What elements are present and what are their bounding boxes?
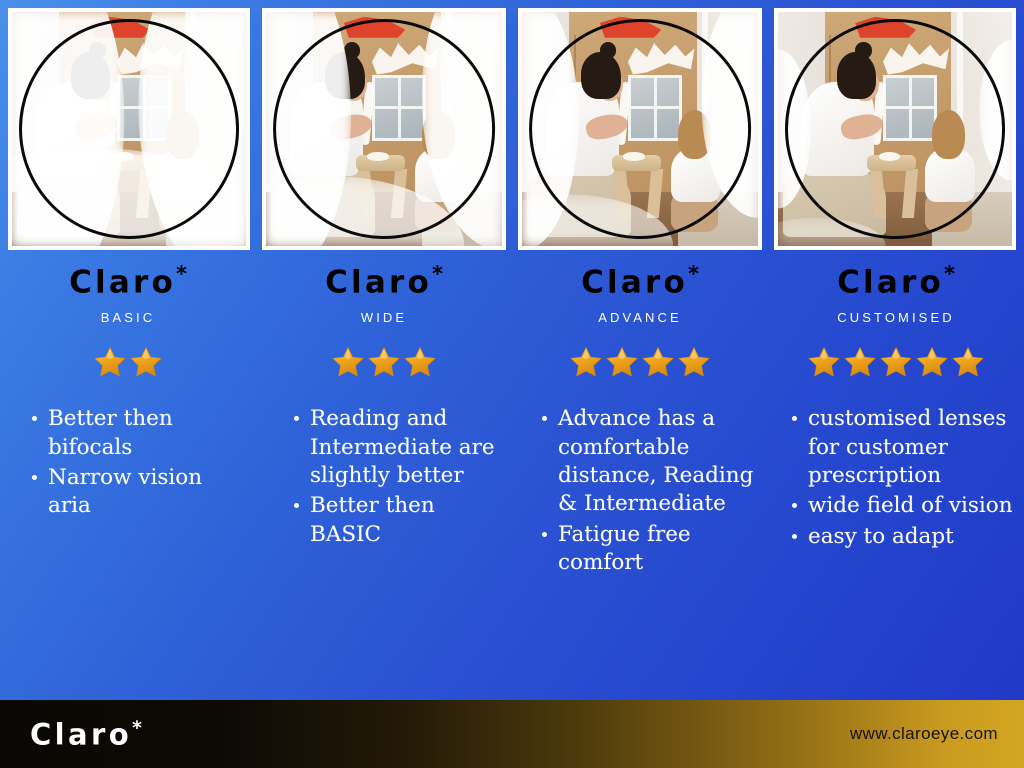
adult-hair-bun [344,42,361,58]
tier-column-wide: Claro* WIDE Reading and Intermediate are… [256,258,512,700]
photo-frame [8,8,250,250]
star-icon [807,345,841,379]
star-icon [641,345,675,379]
feature-list-advance: Advance has a comfortable distance, Read… [520,405,760,579]
room-scene [522,12,758,246]
star-icon [129,345,163,379]
star-icon [403,345,437,379]
footer-bar: Claro* www.claroeye.com [0,700,1024,768]
star-icon [331,345,365,379]
lens-comparison-poster: Claro* BASIC Better then bifocalsNarrow … [0,0,1024,768]
tier-column-basic: Claro* BASIC Better then bifocalsNarrow … [0,258,256,700]
room-scene [12,12,246,246]
brand-asterisk: * [944,262,955,286]
lens-view-customised [778,12,1012,246]
star-icon [951,345,985,379]
feature-list-wide: Reading and Intermediate are slightly be… [264,405,504,551]
list-item: Reading and Intermediate are slightly be… [294,405,502,490]
feature-list-basic: Better then bifocalsNarrow vision aria [8,405,248,523]
star-icon [367,345,401,379]
painted-window [883,75,937,141]
child-hair [422,110,455,159]
room-scene [778,12,1012,246]
brand-name: Claro [69,264,176,300]
lens-panel-basic [0,0,256,258]
adult-hair [325,52,365,99]
adult-hair [71,52,111,99]
lens-panel-advance [512,0,768,258]
list-item: wide field of vision [792,492,1016,520]
star-icon [605,345,639,379]
brand-name: Claro [325,264,432,300]
brand-asterisk: * [688,262,699,286]
lens-panel-wide [256,0,512,258]
adult-hair-bun [600,42,617,58]
child-hair [166,110,199,159]
paint-plate [113,152,134,160]
list-item: Better then bifocals [32,405,246,462]
star-icon [843,345,877,379]
adult-hair [837,52,877,99]
star-icon [569,345,603,379]
room-scene [266,12,502,246]
list-item: Advance has a comfortable distance, Read… [542,405,758,519]
footer-brand-name: Claro [30,717,132,751]
adult-hair [581,52,621,99]
photo-frame [262,8,506,250]
painted-window [117,75,171,141]
list-item: Fatigue free comfort [542,521,758,578]
footer-brand-asterisk: * [132,717,142,739]
brand-name: Claro [837,264,944,300]
product-tier-columns: Claro* BASIC Better then bifocalsNarrow … [0,258,1024,700]
rating-stars-basic [93,345,163,379]
tier-label-basic: BASIC [101,310,156,325]
tier-label-advance: ADVANCE [598,310,682,325]
brand-wordmark: Claro* [581,264,699,298]
rating-stars-customised [807,345,985,379]
list-item: Narrow vision aria [32,464,246,521]
tier-label-wide: WIDE [361,310,407,325]
list-item: easy to adapt [792,523,1016,551]
brand-wordmark: Claro* [325,264,443,298]
adult-hair-bun [855,42,871,58]
lens-view-advance [522,12,758,246]
tier-label-customised: CUSTOMISED [837,310,954,325]
brand-wordmark: Claro* [69,264,187,298]
paint-plate [623,152,644,160]
brand-wordmark: Claro* [837,264,955,298]
footer-brand-wordmark: Claro* [30,719,142,750]
painted-window [372,75,426,141]
photo-frame [518,8,762,250]
star-icon [915,345,949,379]
painted-window [628,75,682,141]
rating-stars-wide [331,345,437,379]
brand-name: Claro [581,264,688,300]
list-item: customised lenses for customer prescript… [792,405,1016,490]
brand-asterisk: * [176,262,187,286]
paint-plate [879,152,900,160]
photo-frame [774,8,1016,250]
brand-asterisk: * [432,262,443,286]
child-hair [678,110,711,159]
star-icon [677,345,711,379]
feature-list-customised: customised lenses for customer prescript… [776,405,1016,553]
star-icon [93,345,127,379]
lens-simulation-panels [0,0,1024,258]
adult-hair-bun [89,42,105,58]
lens-panel-customised [768,0,1024,258]
child-hair [932,110,965,159]
list-item: Better then BASIC [294,492,502,549]
lens-view-basic [12,12,246,246]
star-icon [879,345,913,379]
paint-plate [367,152,388,160]
rating-stars-advance [569,345,711,379]
website-url: www.claroeye.com [850,724,998,744]
lens-view-wide [266,12,502,246]
tier-column-advance: Claro* ADVANCE Advance has a comfortable… [512,258,768,700]
tier-column-customised: Claro* CUSTOMISED customised lenses for … [768,258,1024,700]
